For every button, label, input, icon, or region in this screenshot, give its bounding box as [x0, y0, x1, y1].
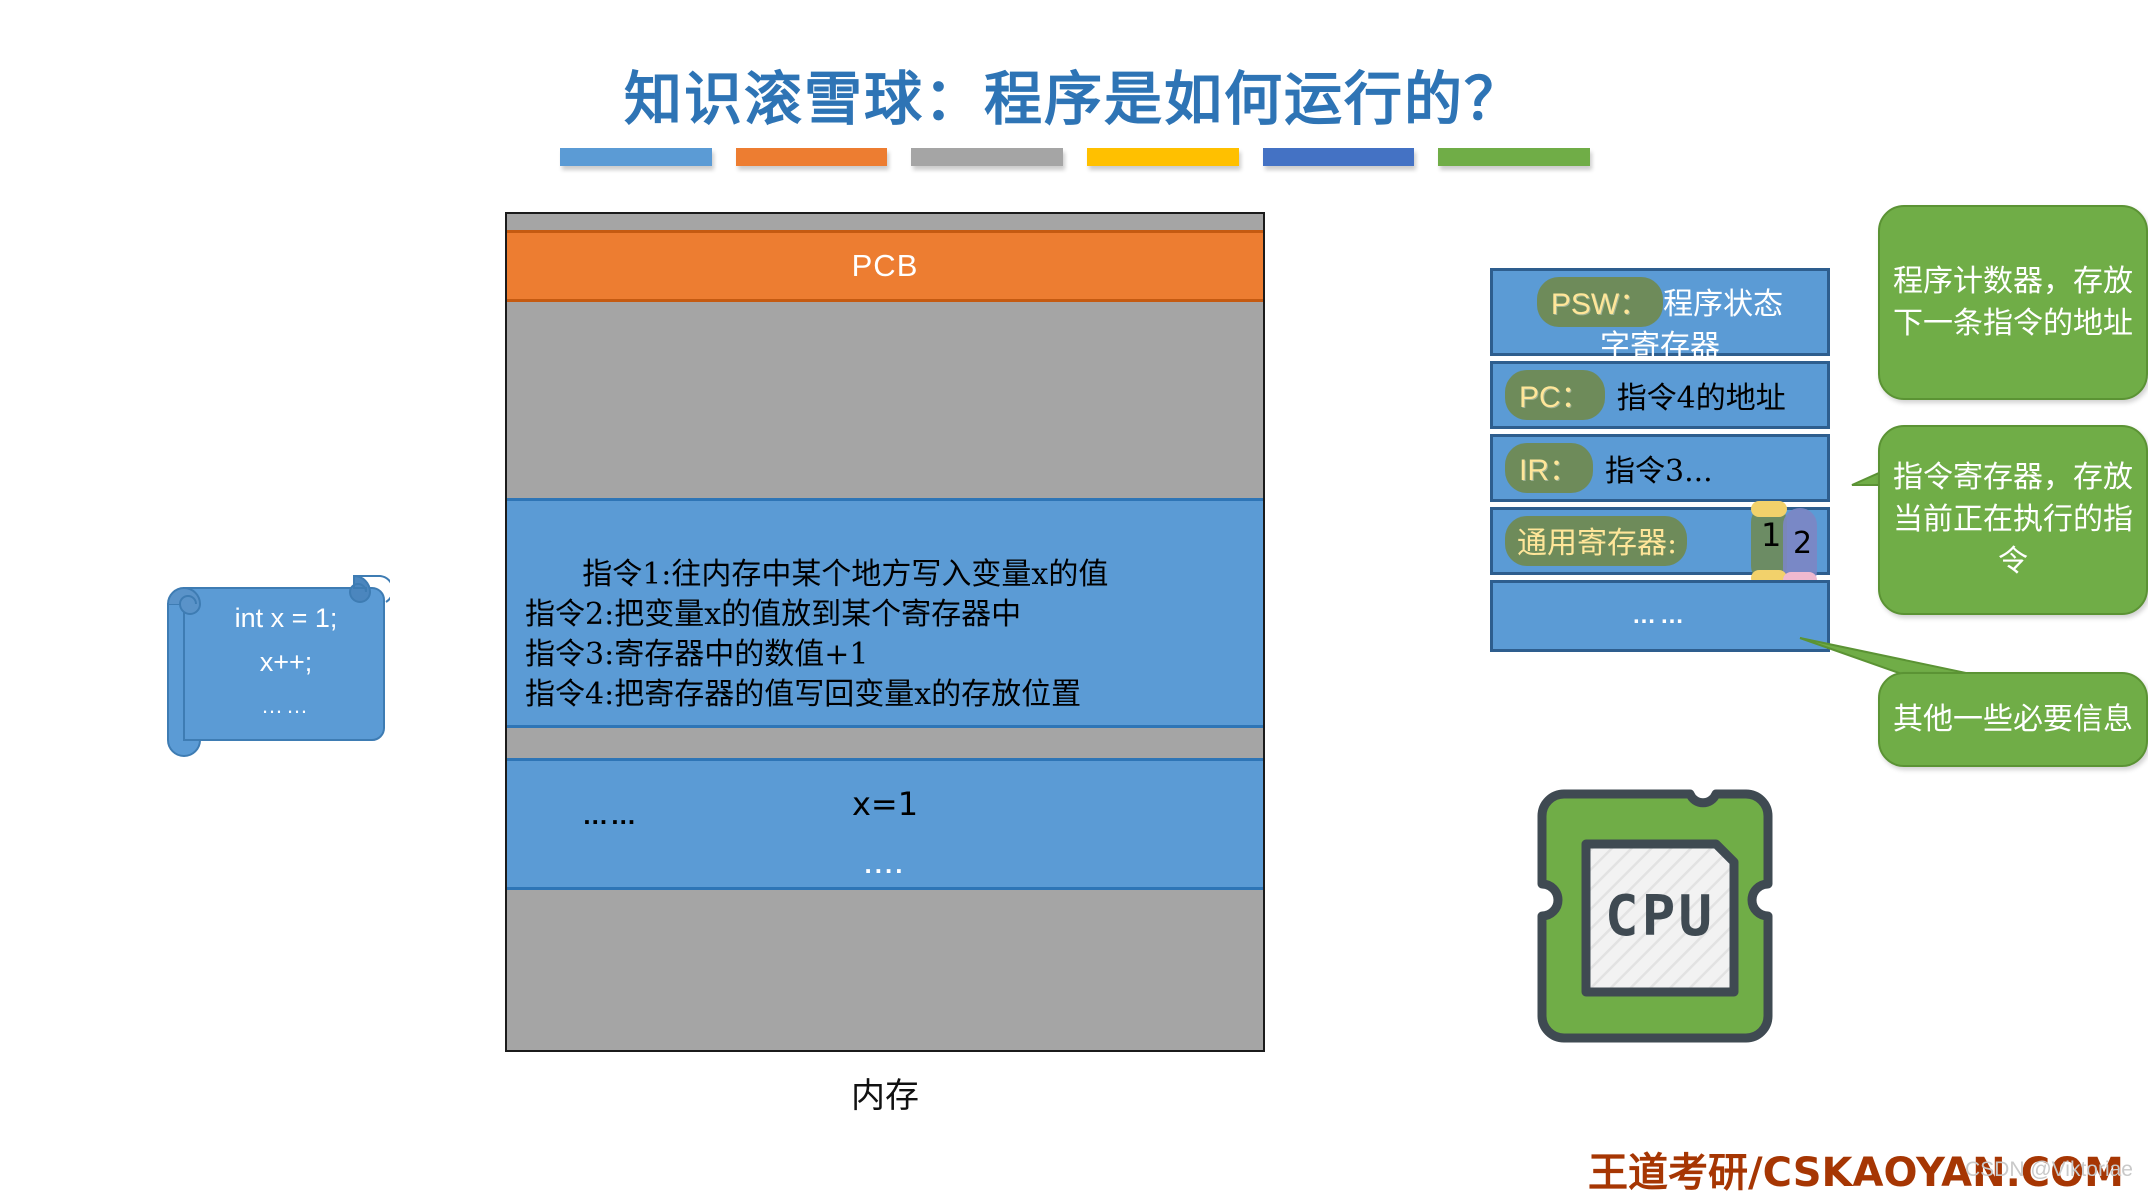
- memory-gray-gap: [507, 728, 1263, 758]
- page-title: 知识滚雪球：程序是如何运行的？: [0, 52, 2148, 136]
- cpu-label: CPU: [1605, 884, 1715, 949]
- register-panel: PSW：程序状态 字寄存器 PC： 指令4的地址 IR： 指令3... 通用寄存…: [1490, 268, 1830, 657]
- underbar-6: [1438, 148, 1590, 166]
- cpu-chip-svg: CPU: [1520, 780, 1790, 1060]
- instruction-list: 指令1:往内存中某个地方写入变量x的值 指令2:把变量x的值放到某个寄存器中 指…: [525, 557, 1108, 712]
- memory-gray-top: [507, 214, 1263, 230]
- callout-other-text: 其他一些必要信息: [1893, 699, 2133, 741]
- underbar-4: [1087, 148, 1239, 166]
- register-ellipsis: ……: [1632, 602, 1688, 630]
- register-value-psw-line1: 程序状态: [1663, 287, 1783, 322]
- instruction-ellipsis: ……: [582, 800, 638, 830]
- memory-gray-bottom: [507, 890, 1263, 980]
- general-reg-value-2: 2: [1793, 526, 1812, 561]
- memory-data-ellipsis: ....: [865, 849, 906, 880]
- register-key-general: 通用寄存器:: [1505, 516, 1687, 566]
- register-key-psw: PSW：: [1537, 277, 1663, 327]
- register-value-ir: 指令3...: [1605, 446, 1713, 490]
- general-reg-value-1: 1: [1761, 516, 1781, 554]
- pcb-label: PCB: [852, 248, 919, 284]
- memory-pcb-segment: PCB: [507, 230, 1263, 302]
- register-row-pc[interactable]: PC： 指令4的地址: [1490, 361, 1830, 429]
- underbar-3: [911, 148, 1063, 166]
- cpu-icon: CPU: [1520, 780, 1790, 1060]
- memory-block: PCB 指令1:往内存中某个地方写入变量x的值 指令2:把变量x的值放到某个寄存…: [505, 212, 1265, 1052]
- code-line-2: x++;: [188, 640, 384, 684]
- register-row-general[interactable]: 通用寄存器: 1 2: [1490, 507, 1830, 575]
- general-reg-pill-yellow-top: [1751, 501, 1787, 517]
- code-scroll: int x = 1; x++; ……: [150, 568, 390, 768]
- code-line-1: int x = 1;: [188, 596, 384, 640]
- register-key-pc: PC：: [1505, 370, 1605, 420]
- watermark-csdn: CSDN @Viktoriae: [1965, 1158, 2133, 1182]
- callout-pc-text: 程序计数器，存放下一条指令的地址: [1890, 261, 2136, 345]
- callout-instruction-register[interactable]: 指令寄存器，存放当前正在执行的指令: [1878, 425, 2148, 615]
- underbar-1: [560, 148, 712, 166]
- slide-root: 知识滚雪球：程序是如何运行的？ PCB 指令1:往内存中某个地方写入变量x的值 …: [0, 0, 2148, 1200]
- callout-other-info[interactable]: 其他一些必要信息: [1878, 672, 2148, 767]
- memory-gray-middle: [507, 302, 1263, 498]
- title-underbar-group: [560, 148, 1590, 170]
- register-row-more[interactable]: ……: [1490, 580, 1830, 652]
- underbar-2: [736, 148, 888, 166]
- code-line-3: ……: [188, 684, 384, 728]
- register-key-ir: IR：: [1505, 443, 1593, 493]
- memory-caption: 内存: [505, 1068, 1265, 1117]
- code-text: int x = 1; x++; ……: [188, 586, 384, 738]
- register-row-ir[interactable]: IR： 指令3...: [1490, 434, 1830, 502]
- underbar-5: [1263, 148, 1415, 166]
- memory-variable-value: x=1: [852, 785, 918, 823]
- callout-ir-text: 指令寄存器，存放当前正在执行的指令: [1890, 457, 2136, 583]
- register-value-pc: 指令4的地址: [1617, 373, 1786, 417]
- register-row-psw[interactable]: PSW：程序状态 字寄存器: [1490, 268, 1830, 356]
- callout-program-counter[interactable]: 程序计数器，存放下一条指令的地址: [1878, 205, 2148, 400]
- memory-instruction-segment: 指令1:往内存中某个地方写入变量x的值 指令2:把变量x的值放到某个寄存器中 指…: [507, 498, 1263, 728]
